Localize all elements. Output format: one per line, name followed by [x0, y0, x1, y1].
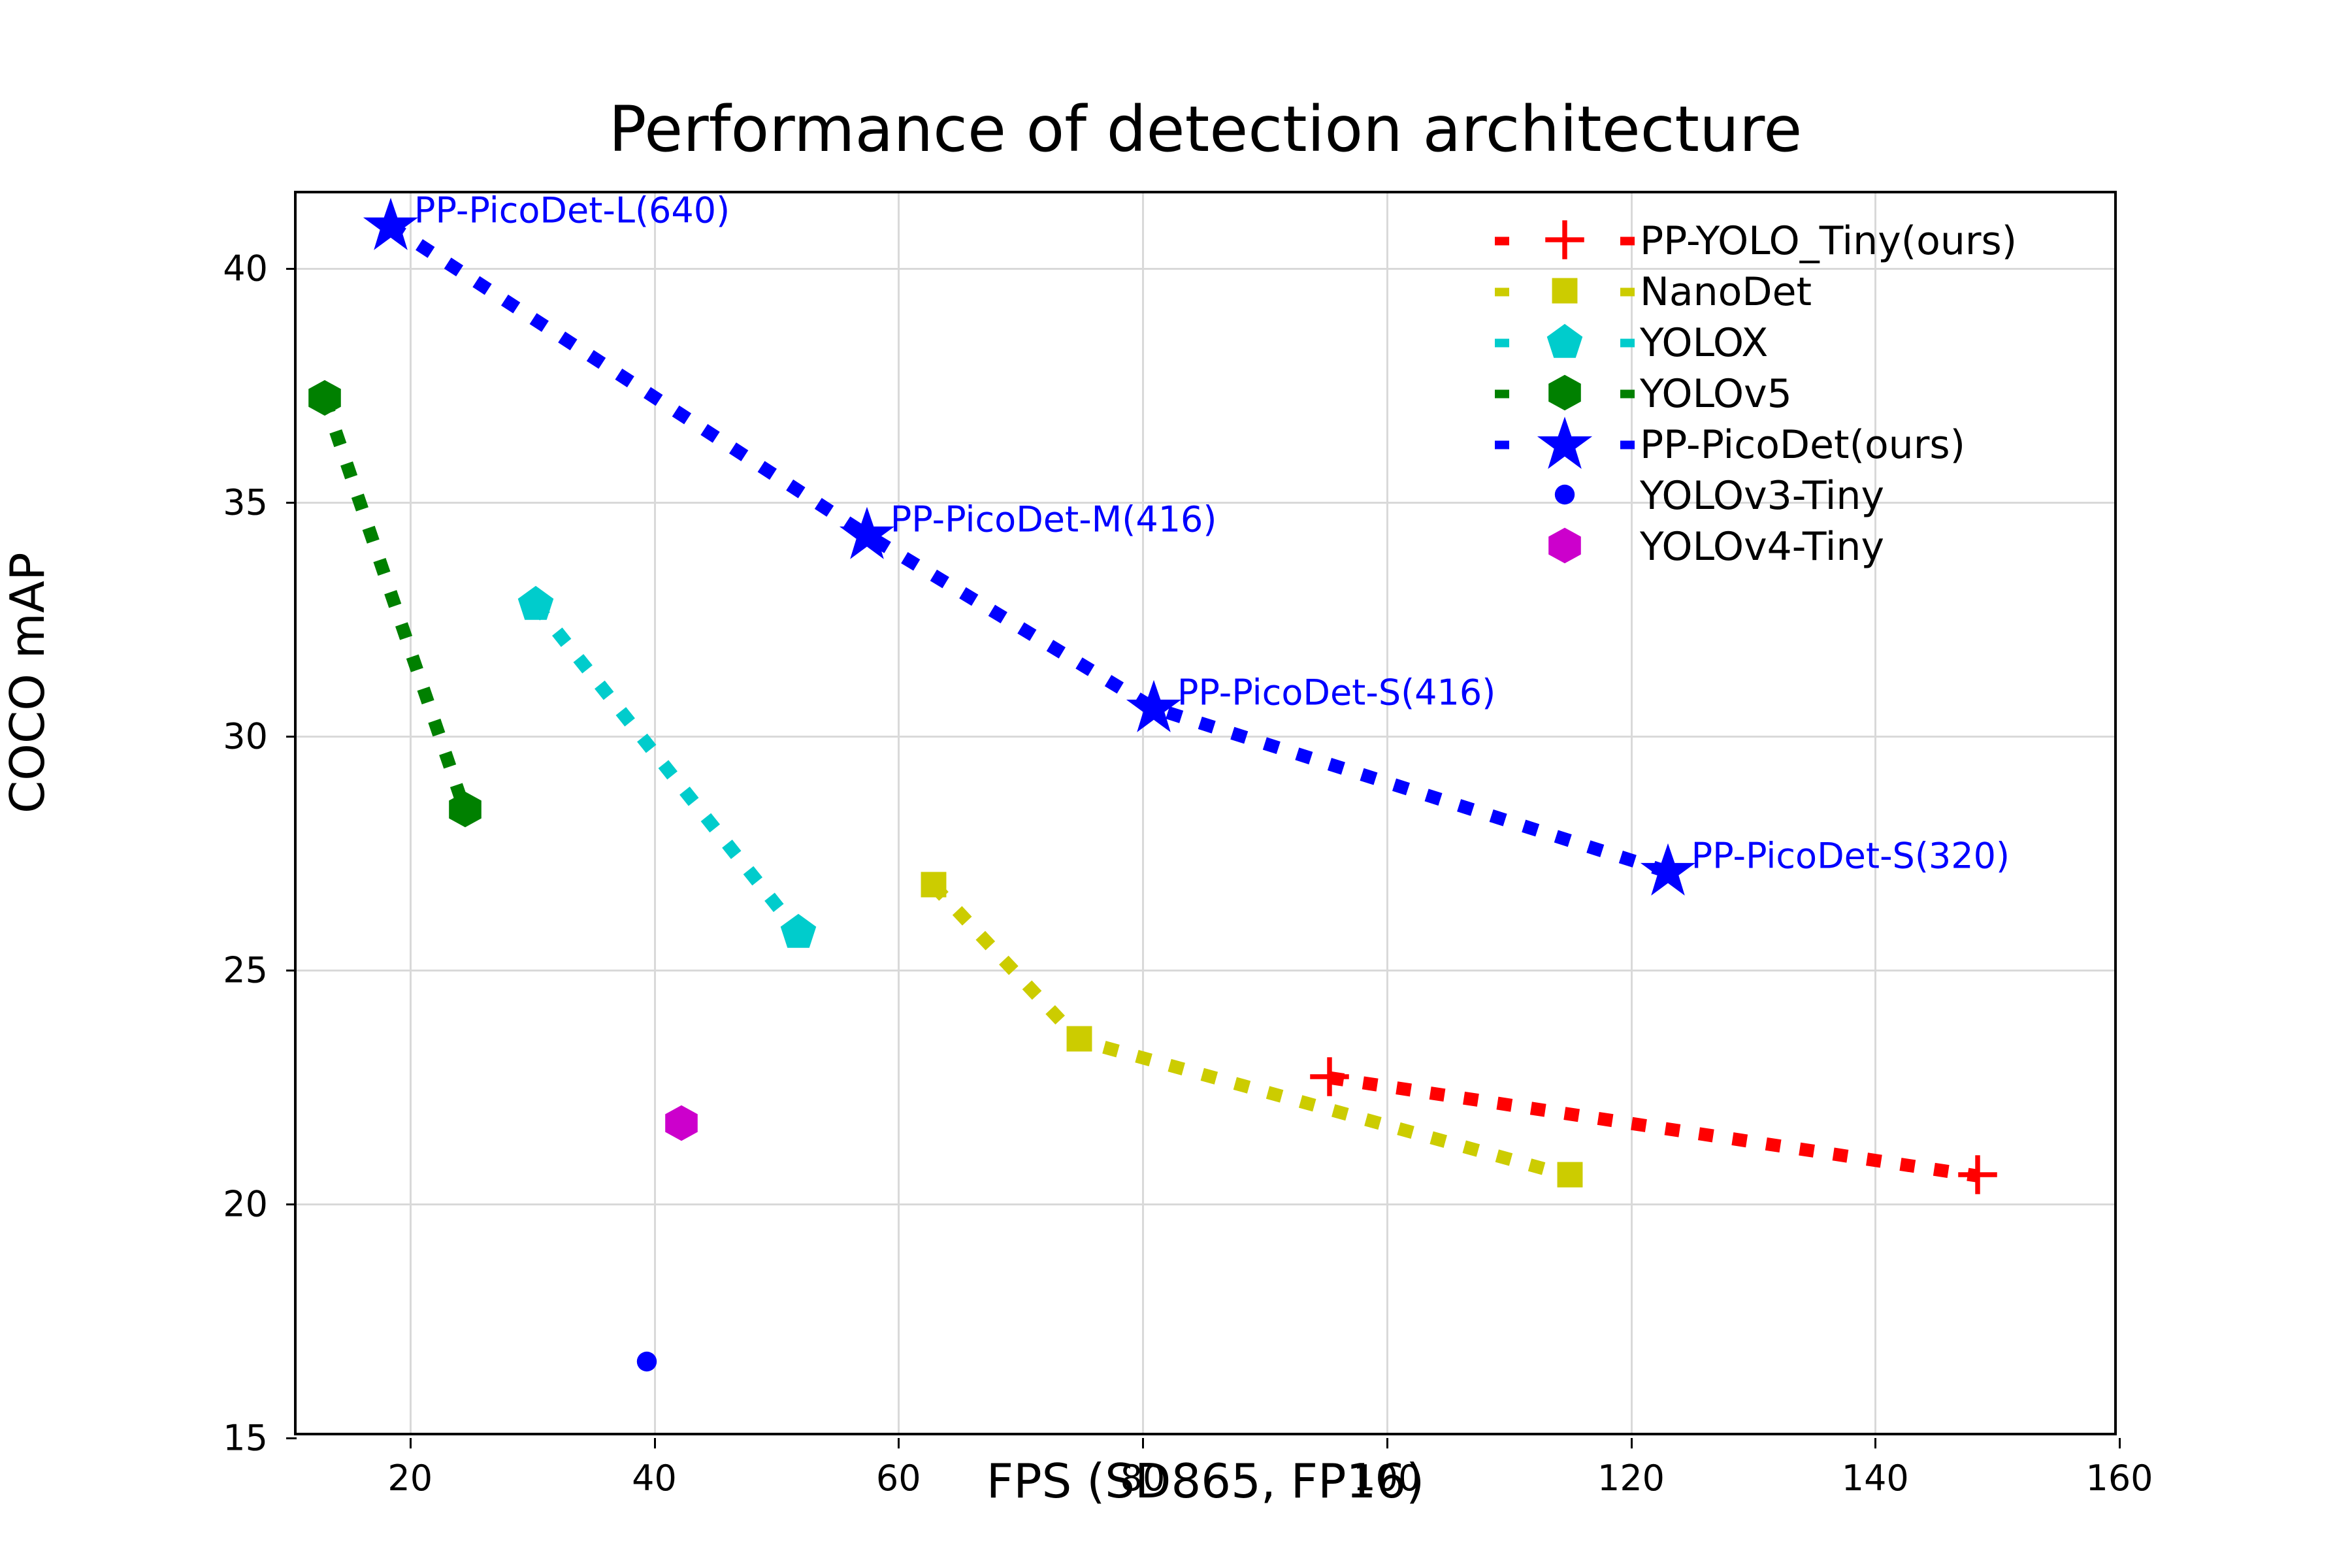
data-point-marker[interactable] [363, 197, 419, 255]
legend-marker [1544, 525, 1585, 568]
legend-line-dash [1620, 339, 1635, 348]
x-tick-label: 20 [387, 1458, 433, 1499]
legend-item-2[interactable]: YOLOX [1490, 318, 2097, 368]
x-tick [654, 1438, 656, 1448]
y-tick [286, 970, 297, 972]
y-tick [286, 1437, 297, 1439]
legend-item-4[interactable]: PP-PicoDet(ours) [1490, 419, 2097, 470]
legend-key [1490, 318, 1640, 368]
data-point-label: PP-PicoDet-S(416) [1177, 672, 1495, 713]
y-tick-label: 20 [223, 1183, 268, 1224]
x-tick-label: 100 [1353, 1458, 1420, 1499]
legend-item-5[interactable]: YOLOv3-Tiny [1490, 470, 2097, 521]
x-tick [1874, 1438, 1876, 1448]
chart-figure: Performance of detection architecture CO… [0, 0, 2352, 1568]
legend-marker [1547, 273, 1582, 311]
y-tick [286, 268, 297, 270]
x-tick-label: 120 [1597, 1458, 1665, 1499]
legend-label: YOLOv3-Tiny [1640, 473, 1884, 519]
data-point-marker[interactable] [1640, 842, 1696, 901]
y-axis-title: COCO mAP [0, 552, 55, 813]
legend-line-dash [1620, 441, 1635, 449]
legend-marker [1544, 372, 1585, 416]
legend-line-dash [1620, 390, 1635, 399]
legend-item-3[interactable]: YOLOv5 [1490, 368, 2097, 419]
chart-title: Performance of detection architecture [294, 98, 2117, 161]
data-point-marker[interactable] [661, 1103, 702, 1146]
x-tick-label: 60 [876, 1458, 921, 1499]
data-point-marker[interactable] [634, 1348, 660, 1377]
x-tick [410, 1438, 412, 1448]
legend-line-dash [1620, 237, 1635, 246]
legend-key [1490, 470, 1640, 521]
x-tick-label: 160 [2085, 1458, 2153, 1499]
legend-label: YOLOX [1640, 320, 1768, 366]
legend-label: PP-YOLO_Tiny(ours) [1640, 218, 2017, 264]
legend-key [1490, 216, 1640, 267]
data-point-label: PP-PicoDet-M(416) [890, 498, 1217, 540]
data-point-marker[interactable] [1126, 679, 1182, 738]
y-tick-label: 25 [223, 949, 268, 990]
legend-line-dash [1495, 288, 1509, 297]
legend-label: YOLOv5 [1640, 371, 1792, 417]
legend-key [1490, 419, 1640, 470]
data-point-label: PP-PicoDet-S(320) [1691, 836, 2010, 877]
x-tick-label: 140 [1842, 1458, 1909, 1499]
y-tick-label: 15 [223, 1418, 268, 1459]
legend-marker [1544, 321, 1585, 365]
legend-marker [1544, 220, 1585, 263]
y-tick-label: 30 [223, 715, 268, 757]
x-tick-label: 40 [632, 1458, 677, 1499]
x-tick [1631, 1438, 1633, 1448]
legend-item-1[interactable]: NanoDet [1490, 267, 2097, 318]
y-tick-label: 40 [223, 248, 268, 289]
legend-label: YOLOv4-Tiny [1640, 524, 1884, 570]
legend-marker [1552, 482, 1578, 510]
legend-line-dash [1620, 288, 1635, 297]
x-tick-label: 80 [1120, 1458, 1166, 1499]
data-point-marker[interactable] [839, 506, 895, 564]
legend-marker [1537, 416, 1593, 474]
legend-line-dash [1495, 390, 1509, 399]
legend-key [1490, 521, 1640, 572]
x-tick [1386, 1438, 1388, 1448]
legend-label: PP-PicoDet(ours) [1640, 422, 1965, 468]
legend-item-0[interactable]: PP-YOLO_Tiny(ours) [1490, 216, 2097, 267]
x-tick [2119, 1438, 2121, 1448]
legend-item-6[interactable]: YOLOv4-Tiny [1490, 521, 2097, 572]
data-point-label: PP-PicoDet-L(640) [414, 190, 730, 231]
legend-label: NanoDet [1640, 269, 1812, 315]
y-tick [286, 1203, 297, 1205]
y-tick-label: 35 [223, 482, 268, 523]
chart-legend: PP-YOLO_Tiny(ours)NanoDetYOLOXYOLOv5PP-P… [1490, 216, 2097, 572]
legend-key [1490, 368, 1640, 419]
legend-key [1490, 267, 1640, 318]
legend-line-dash [1495, 237, 1509, 246]
x-tick [1142, 1438, 1144, 1448]
y-tick [286, 736, 297, 738]
legend-line-dash [1495, 441, 1509, 449]
x-tick [898, 1438, 900, 1448]
legend-line-dash [1495, 339, 1509, 348]
y-tick [286, 502, 297, 504]
